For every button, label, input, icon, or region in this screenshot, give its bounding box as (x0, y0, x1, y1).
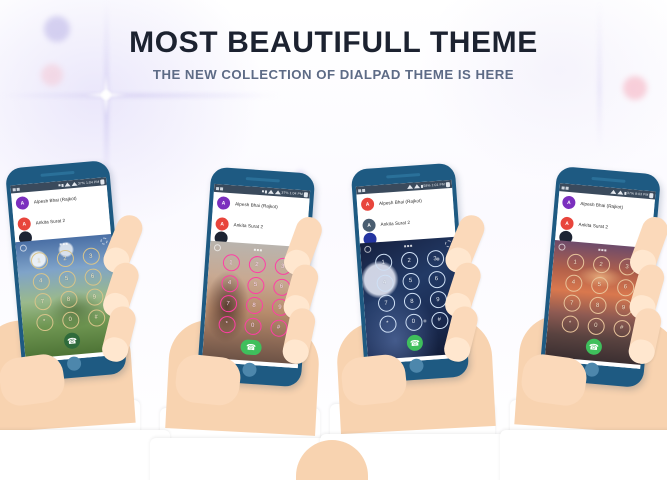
dialpad-key-hash[interactable]: # (612, 319, 630, 337)
status-bar-text: 37% 8:03 PM (627, 191, 649, 197)
dialpad-key-2[interactable]: 2 (56, 249, 74, 267)
avatar: A (562, 195, 576, 209)
contact-list[interactable]: A Alpesh Bhai (Rajkot) A Ankita Surat 2 (11, 185, 111, 242)
dialpad-key-1[interactable]: 1 (374, 253, 392, 271)
dialpad-key-4[interactable]: 4 (376, 274, 394, 292)
contact-name: Ankita Surat 2 (578, 222, 608, 230)
dialpad-key-5[interactable]: 5 (57, 270, 75, 288)
earpiece-speaker (386, 173, 420, 178)
contact-list[interactable]: A Alpesh Bhai (Rajkot) A Ankita Surat 2 (356, 188, 455, 244)
dialpad-key-0[interactable]: 0 (587, 317, 605, 335)
dialpad-key-8[interactable]: 8 (588, 296, 606, 314)
dialpad-key-6[interactable]: 6 (83, 267, 101, 285)
contact-name: Alpesh Bhai (Rajkot) (34, 196, 77, 205)
dialpad-key-1[interactable]: 1 (566, 253, 584, 271)
avatar: A (17, 217, 31, 231)
dialpad-key-3[interactable]: 3 (82, 247, 100, 265)
contact-name: Alpesh Bhai (Rajkot) (580, 201, 623, 210)
dialpad-key-9[interactable]: 9 (85, 288, 103, 306)
settings-ring-icon[interactable] (20, 244, 28, 252)
dialpad-key-8[interactable]: 8 (403, 292, 421, 310)
avatar: A (15, 196, 29, 210)
contact-name: Alpesh Bhai (Rajkot) (379, 198, 422, 206)
dialpad-key-7[interactable]: 7 (219, 295, 237, 313)
dialpad-key-0[interactable]: 0 (244, 317, 262, 335)
dialpad-key-2[interactable]: 2 (592, 255, 610, 273)
dialpad-key-star[interactable]: * (218, 315, 236, 333)
earpiece-speaker (591, 177, 625, 183)
home-button[interactable] (584, 362, 599, 377)
home-button[interactable] (409, 358, 424, 373)
settings-ring-icon[interactable] (558, 243, 566, 251)
dialpad-key-7[interactable]: 7 (377, 294, 395, 312)
phone-call-icon: ☎ (589, 342, 600, 352)
status-bar-text: 37% 1:04 PM (78, 180, 100, 186)
dialpad-key-1[interactable]: 1 (222, 254, 240, 272)
dialpad-key-8[interactable]: 8 (245, 296, 263, 314)
dialpad-key-6[interactable]: 6 (616, 278, 634, 296)
settings-ring-icon[interactable] (364, 245, 371, 252)
contact-name: Ankita Surat 2 (35, 218, 65, 226)
dialpad-key-0[interactable]: 0 (61, 311, 79, 329)
page-title: MOST BEAUTIFULL THEME (0, 26, 667, 60)
dialpad-key-2[interactable]: 2 (400, 251, 418, 269)
dialpad-key-4[interactable]: 4 (32, 272, 50, 290)
contact-name: Alpesh Bhai (Rajkot) (235, 201, 278, 209)
grid-dots-icon[interactable] (60, 243, 67, 245)
home-button[interactable] (67, 356, 82, 371)
dialpad-key-4[interactable]: 4 (564, 273, 582, 291)
light-beam-horizontal-left (0, 94, 280, 97)
earpiece-speaker (246, 177, 280, 182)
dialpad-key-4[interactable]: 4 (220, 274, 238, 292)
earpiece-speaker (40, 171, 74, 177)
settings-ring-icon[interactable] (214, 244, 221, 251)
avatar: A (362, 218, 376, 232)
dialpad-key-2[interactable]: 2 (248, 255, 266, 273)
status-bar-text: 58% 1:01 PM (423, 182, 445, 187)
call-button[interactable]: ☎ (63, 332, 80, 349)
dialpad-key-hash[interactable]: # (430, 311, 448, 329)
home-button[interactable] (242, 362, 257, 377)
dialpad-key-3[interactable]: 3 (426, 250, 444, 268)
dialpad-key-0[interactable]: 0 (404, 313, 422, 331)
contact-name: Ankita Surat 2 (380, 220, 410, 227)
dialpad-key-8[interactable]: 8 (59, 290, 77, 308)
grid-dots-icon[interactable] (599, 249, 606, 251)
avatar: A (361, 197, 375, 211)
page-subtitle: THE NEW COLLECTION OF DIALPAD THEME IS H… (0, 67, 667, 82)
dialpad-key-hash[interactable]: # (87, 308, 105, 326)
phone-call-icon: ☎ (410, 338, 421, 348)
dialpad-key-6[interactable]: 6 (427, 270, 445, 288)
call-button[interactable]: ☎ (585, 338, 602, 355)
phone-call-icon: ☎ (67, 336, 78, 346)
dialpad-key-1[interactable]: 1 (30, 252, 48, 270)
dialpad-key-5[interactable]: 5 (401, 272, 419, 290)
camera-ring-icon[interactable] (100, 237, 108, 245)
sleeve-front-1 (0, 430, 170, 480)
dialpad-key-7[interactable]: 7 (562, 294, 580, 312)
promo-banner: MOST BEAUTIFULL THEME THE NEW COLLECTION… (0, 0, 667, 480)
dialpad-key-star[interactable]: * (561, 314, 579, 332)
dialpad-key-star[interactable]: * (378, 315, 396, 333)
avatar: A (560, 216, 574, 230)
status-bar-text: 37% 1:04 PM (281, 191, 303, 196)
avatar: A (217, 196, 231, 210)
dialpad-key-5[interactable]: 5 (590, 276, 608, 294)
dialpad-key-7[interactable]: 7 (33, 292, 51, 310)
call-button[interactable]: ☎ (406, 334, 423, 351)
dialpad-key-star[interactable]: * (35, 313, 53, 331)
sleeve-front-4 (500, 430, 667, 480)
dialpad-key-5[interactable]: 5 (246, 276, 264, 294)
thumb (174, 353, 243, 407)
grid-dots-icon[interactable] (254, 249, 261, 251)
avatar: A (215, 217, 229, 231)
call-button[interactable]: ☎ (240, 339, 262, 355)
dialpad-key-hash[interactable]: # (269, 319, 287, 337)
phone-call-icon: ☎ (246, 342, 257, 352)
grid-dots-icon[interactable] (404, 245, 411, 247)
contact-name: Ankita Surat 2 (233, 222, 263, 229)
